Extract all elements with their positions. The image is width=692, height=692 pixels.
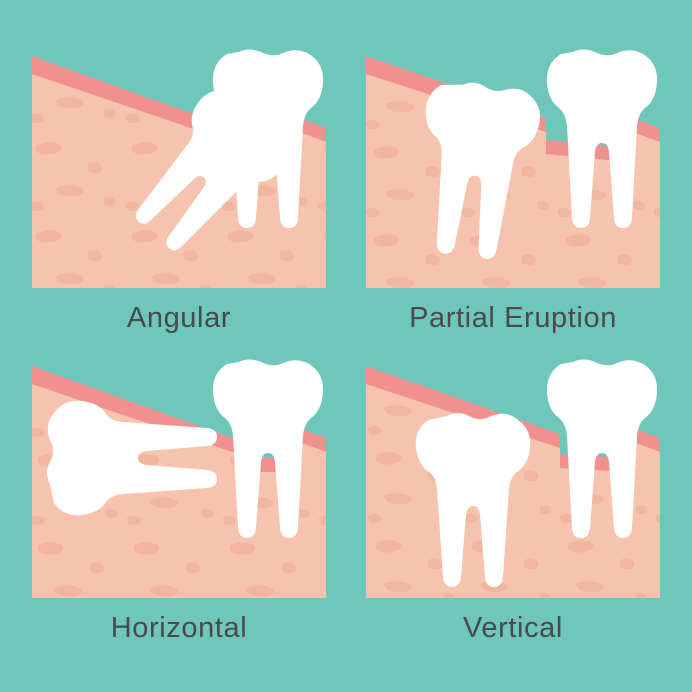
panel-angular bbox=[26, 44, 332, 294]
panel-partial-eruption bbox=[360, 44, 666, 294]
panel-label-vertical: Vertical bbox=[360, 612, 666, 645]
illustration-angular bbox=[26, 44, 332, 294]
panel-horizontal bbox=[26, 354, 332, 604]
illustration-horizontal bbox=[26, 354, 332, 604]
panel-label-partial-eruption: Partial Eruption bbox=[360, 302, 666, 335]
wisdom-tooth-impaction-infographic: Angular bbox=[0, 0, 692, 692]
panel-label-angular: Angular bbox=[26, 302, 332, 335]
panel-vertical bbox=[360, 354, 666, 604]
panel-label-horizontal: Horizontal bbox=[26, 612, 332, 645]
illustration-vertical bbox=[360, 354, 666, 604]
illustration-partial-eruption bbox=[360, 44, 666, 294]
